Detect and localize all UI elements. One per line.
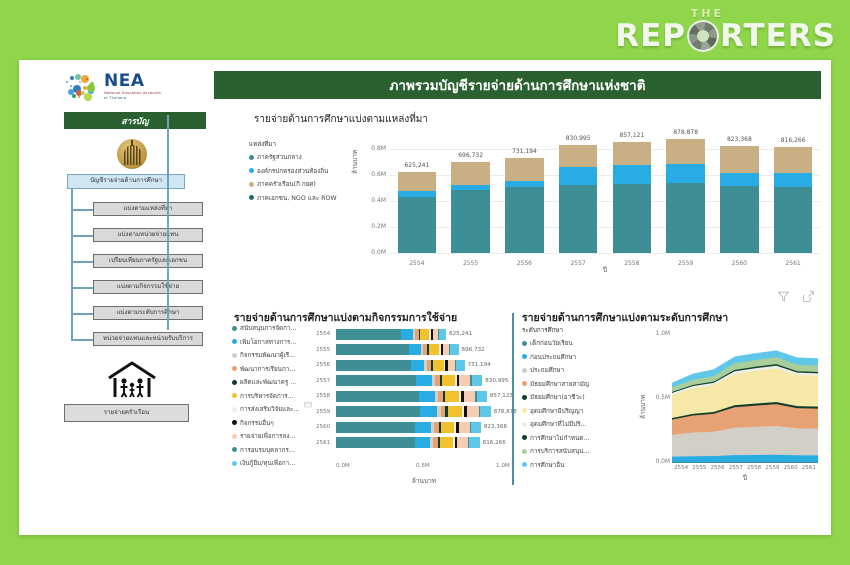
hbar-value-label: 830,995 [485,378,508,384]
legend-label: ก่อนประถมศึกษา [530,352,576,362]
hbar-segment[interactable] [457,437,468,448]
hbar-segment[interactable] [472,375,482,386]
bar-segment[interactable] [559,167,598,185]
chart-toolbar [777,288,815,307]
nea-logo: NEA National Education Accounts of Thail… [64,72,161,102]
bar-column[interactable]: 816,2662561 [766,130,820,275]
bar-column[interactable]: 696,7322555 [444,130,498,275]
x-axis-tick: 2555 [690,465,708,471]
legend-label: อุดมศึกษาที่ไม่มีปริ... [530,419,587,429]
legend-swatch [249,182,254,187]
legend-swatch [249,168,254,173]
hbar-category: 2555 [316,347,336,353]
bar-segment[interactable] [613,184,652,253]
legend-label: การบริหารจัดการ... [240,391,294,401]
hbar-track [336,391,512,402]
bar-column[interactable]: 830,9952557 [551,130,605,275]
x-axis-tick: 2554 [672,465,690,471]
site-logo: THE REP RTERS [615,8,836,52]
bar-column[interactable]: 823,3682560 [713,130,767,275]
hbar-category: 2559 [316,409,336,415]
bar-value-label: 823,368 [713,136,767,143]
legend-swatch [232,366,237,371]
bar-value-label: 830,995 [551,135,605,142]
nea-logo-subtitle-1: National Education Accounts [104,92,161,96]
legend-label: เพิ่มโอกาสทางการ... [240,337,296,347]
hbar-segment[interactable] [420,406,437,417]
legend-swatch [522,408,527,413]
legend-item[interactable]: ผลิตและพัฒนาครู ... [232,377,314,387]
hbar-segment[interactable] [445,391,459,402]
hbar-category: 2560 [316,424,336,430]
bar-segment[interactable] [451,162,490,184]
legend-label: เงินกู้ยืม/ทุนเพื่อกา... [240,458,295,468]
legend-item[interactable]: ประถมศึกษา [522,365,610,375]
sidebar-item-by-payer-unit[interactable]: แบ่งตามหน่วยจ่ายแทน [93,228,203,242]
page-title: ภาพรวมบัญชีรายจ่ายด้านการศึกษาแห่งชาติ [214,71,821,99]
nea-logo-subtitle-2: of Thailand [104,97,161,101]
legend-label: ประถมศึกษา [530,365,564,375]
sidebar: สารบัญ บัญชีรายจ่ายด้านการศึกษา แบ่งตามแ… [64,112,214,527]
dashboard-header: NEA National Education Accounts of Thail… [19,60,831,108]
hbar-segment[interactable] [464,391,476,402]
legend-item[interactable]: ภาคเอกชน, NGO และ ROW [249,193,361,203]
legend-item[interactable]: รายจ่ายเพื่อการลง... [232,431,314,441]
br-legend-title: ระดับการศึกษา [522,325,610,335]
tree-tick [71,235,93,237]
hbar-row[interactable]: 2559878,878 [316,405,512,419]
bar-segment[interactable] [613,165,652,184]
hbar-segment[interactable] [409,344,421,355]
bar-segment[interactable] [398,197,437,253]
legend-label: มัธยมศึกษาสายสามัญ [530,379,589,389]
legend-label: การศึกษาไม่กำหนด... [530,433,589,443]
sidebar-item-payer-and-service-units[interactable]: หน่วยจ่ายแทนและหน่วยรับบริการ [93,332,203,346]
legend-item[interactable]: เพิ่มโอกาสทางการ... [232,337,314,347]
legend-label: องค์กรปกครองส่วนท้องถิ่น [257,166,328,176]
bar-column[interactable]: 731,1942556 [498,130,552,275]
hbar-row[interactable]: 2557830,995 [316,374,512,388]
sidebar-item-public-vs-private[interactable]: เปรียบเทียบภาครัฐและเอกชน [93,254,203,268]
nea-logo-text: NEA [104,73,161,90]
bl-chart-legend: สนับสนุนการจัดกา...เพิ่มโอกาสทางการ...กิ… [232,323,314,472]
stacked-bar[interactable] [613,142,652,253]
legend-item[interactable]: กิจกรรมอื่นๆ [232,418,314,428]
page-title-text: ภาพรวมบัญชีรายจ่ายด้านการศึกษาแห่งชาติ [390,74,646,96]
hbar-segment[interactable] [429,344,439,355]
stacked-bar[interactable] [720,146,759,253]
legend-label: พัฒนาการเรียนกา... [240,364,295,374]
hbar-value-label: 625,241 [449,331,472,337]
bar-value-label: 625,241 [390,162,444,169]
x-axis-tick: 1.0M [496,463,510,469]
br-chart-legend: ระดับการศึกษา เด็กก่อนวัยเรียนก่อนประถมศ… [522,325,610,473]
hbar-row[interactable]: 2556731,194 [316,358,512,372]
legend-item[interactable]: เงินกู้ยืม/ทุนเพื่อกา... [232,458,314,468]
hbar-value-label: 823,368 [484,424,507,430]
hbar-segment[interactable] [415,437,430,448]
hbar-segment[interactable] [416,375,432,386]
hbar-segment[interactable] [459,375,470,386]
legend-label: กิจกรรมพัฒนาผู้เรี... [240,350,295,360]
hbar-segment[interactable] [336,375,416,386]
hbar-segment[interactable] [415,422,430,433]
legend-label: ภาคเอกชน, NGO และ ROW [257,193,337,203]
top-chart-bars: 625,2412554696,7322555731,1942556830,995… [390,130,820,275]
hbar-category: 2558 [316,393,336,399]
top-chart-plot: ล้านบาท 0.0M0.2M0.4M0.6M0.8M 625,2412554… [352,130,822,275]
x-axis-tick: 0.0M [336,463,350,469]
legend-swatch [232,407,237,412]
y-axis-tick: 0.5M [644,395,670,401]
sort-table-icon[interactable] [304,393,312,412]
legend-label: เด็กก่อนวัยเรียน [530,338,573,348]
legend-item[interactable]: พัฒนาการเรียนกา... [232,364,314,374]
hbar-segment[interactable] [439,329,446,340]
hbar-segment[interactable] [442,375,455,386]
bar-column[interactable]: 878,8782559 [659,130,713,275]
table-of-contents-header[interactable]: สารบัญ [64,112,206,129]
chart-expenditure-by-activity: รายจ่ายด้านการศึกษาแบ่งตามกิจกรรมการใช้จ… [232,309,512,489]
stacked-bar[interactable] [398,172,437,253]
legend-swatch [232,353,237,358]
bar-value-label: 857,121 [605,132,659,139]
legend-swatch [232,339,237,344]
bl-chart-xaxis: 0.0M0.5M1.0M [336,463,512,473]
camera-aperture-icon [687,20,719,52]
sidebar-item-by-activity[interactable]: แบ่งตามกิจกรรมใช้จ่าย [93,280,203,294]
hbar-segment[interactable] [471,422,481,433]
hbar-row[interactable]: 2555696,732 [316,343,512,357]
tree-tick [71,287,93,289]
bar-segment[interactable] [774,173,813,187]
legend-item[interactable]: ภาคครัวเรือน(กิ กยศ) [249,179,361,189]
bar-segment[interactable] [559,185,598,253]
logo-rep-text: REP [615,21,686,52]
sidebar-divider [167,115,169,330]
y-axis-tick: 0.8M [360,145,386,152]
hbar-row[interactable]: 2560823,368 [316,420,512,434]
bar-column[interactable]: 625,2412554 [390,130,444,275]
legend-label: ภาคครัวเรือน(กิ กยศ) [257,179,316,189]
hbar-row[interactable]: 2554625,241 [316,327,512,341]
legend-item[interactable]: การบริการสนับสนุน... [522,446,610,456]
legend-swatch [232,434,237,439]
bar-segment[interactable] [559,145,598,167]
hbar-segment[interactable] [336,329,401,340]
area-chart-svg [672,335,818,463]
hbar-value-label: 857,123 [490,393,513,399]
hbar-segment[interactable] [433,360,444,371]
stacked-bar[interactable] [559,145,598,253]
hbar-segment[interactable] [440,437,453,448]
hbar-segment[interactable] [480,406,490,417]
hbar-row[interactable]: 2561816,266 [316,436,512,450]
bar-column[interactable]: 857,1212558 [605,130,659,275]
tree-tick [71,261,93,263]
legend-swatch [522,395,527,400]
tree-spine [71,189,73,340]
stacked-bar[interactable] [774,147,813,253]
bar-segment[interactable] [613,142,652,166]
legend-label: การส่งเสริมวิจัยและ... [240,404,299,414]
tree-tick [71,339,93,341]
legend-item[interactable]: องค์กรปกครองส่วนท้องถิ่น [249,166,361,176]
legend-item[interactable]: มัธยมศึกษาสายสามัญ [522,379,610,389]
top-legend-title: แหล่งที่มา [249,139,361,149]
hbar-track [336,406,512,417]
hbar-segment[interactable] [336,422,415,433]
family-house-icon [106,360,158,400]
bar-segment[interactable] [451,190,490,253]
hbar-category: 2556 [316,362,336,368]
hbar-category: 2554 [316,331,336,337]
legend-label: การบริการสนับสนุน... [530,446,589,456]
legend-swatch [522,422,527,427]
bar-segment[interactable] [774,147,813,173]
stacked-bar[interactable] [451,162,490,253]
legend-item[interactable]: ก่อนประถมศึกษา [522,352,610,362]
legend-swatch [232,447,237,452]
hbar-category: 2557 [316,378,336,384]
legend-swatch [522,462,527,467]
sidebar-item-by-education-level[interactable]: แบ่งตามระดับการศึกษา [93,306,203,320]
bar-segment[interactable] [505,187,544,253]
hbar-segment[interactable] [469,437,479,448]
x-axis-tick: 2560 [782,465,800,471]
legend-item[interactable]: การส่งเสริมวิจัยและ... [232,404,314,414]
legend-swatch [522,435,527,440]
y-axis-tick: 0.0M [360,249,386,256]
legend-item[interactable]: อุดมศึกษาที่ไม่มีปริ... [522,419,610,429]
legend-item[interactable]: กิจกรรมพัฒนาผู้เรี... [232,350,314,360]
hbar-value-label: 696,732 [462,347,485,353]
br-chart-title: รายจ่ายด้านการศึกษาแบ่งตามระดับการศึกษา [522,309,728,326]
chart-expenditure-by-education-level: รายจ่ายด้านการศึกษาแบ่งตามระดับการศึกษา … [520,309,820,489]
hbar-segment[interactable] [336,391,419,402]
x-axis-tick: 2559 [763,465,781,471]
tree-tick [71,313,93,315]
top-chart-ylabel: ล้านบาท [350,150,360,174]
legend-label: กิจกรรมอื่นๆ [240,418,274,428]
hbar-value-label: 731,194 [468,362,491,368]
x-axis-tick: 2558 [745,465,763,471]
logo-rters-text: RTERS [720,21,836,52]
stacked-bar[interactable] [505,158,544,253]
hbar-segment[interactable] [450,344,458,355]
legend-label: ภาครัฐส่วนกลาง [257,152,302,162]
chart-expenditure-by-source: รายจ่ายด้านการศึกษาแบ่งตามแหล่งที่มา แหล… [234,112,822,297]
hbar-segment[interactable] [401,329,412,340]
y-axis-tick: 0.6M [360,171,386,178]
y-axis-tick: 0.4M [360,197,386,204]
y-axis-tick: 0.0M [644,459,670,465]
legend-item[interactable]: ภาครัฐส่วนกลาง [249,152,361,162]
legend-item[interactable]: สนับสนุนการจัดกา... [232,323,314,333]
hbar-segment[interactable] [336,406,420,417]
legend-swatch [522,341,527,346]
br-chart-plot: ล้านบาท 25542555255625572558255925602561… [614,327,820,487]
hbar-category: 2561 [316,440,336,446]
sidebar-item-by-source[interactable]: แบ่งตามแหล่งที่มา [93,202,203,216]
y-axis-tick: 1.0M [644,331,670,337]
hbar-track [336,344,512,355]
tree-tick [71,209,93,211]
legend-label: การศึกษาอื่น [530,460,564,470]
hbar-segment[interactable] [448,406,462,417]
legend-item[interactable]: การศึกษาไม่กำหนด... [522,433,610,443]
legend-swatch [522,449,527,454]
hbar-segment[interactable] [448,360,455,371]
legend-label: มัธยมศึกษา(อาชีวะ) [530,392,585,402]
legend-label: สนับสนุนการจัดกา... [240,323,296,333]
br-chart-xaxis: 25542555255625572558255925602561 [672,465,818,471]
legend-item[interactable]: เด็กก่อนวัยเรียน [522,338,610,348]
bar-value-label: 878,878 [659,129,713,136]
nea-brain-icon [64,72,98,102]
hbar-track [336,329,512,340]
bar-value-label: 816,266 [766,137,820,144]
y-axis-tick: 0.2M [360,223,386,230]
focus-mode-expand-icon[interactable] [802,288,815,307]
main-content: รายจ่ายด้านการศึกษาแบ่งตามแหล่งที่มา แหล… [224,112,823,527]
legend-swatch [232,420,237,425]
hbar-segment[interactable] [336,344,409,355]
hbar-segment[interactable] [477,391,487,402]
legend-swatch [232,326,237,331]
legend-swatch [522,368,527,373]
logo-the-text: THE [691,8,724,19]
hbar-segment[interactable] [411,360,424,371]
legend-swatch [522,381,527,386]
stacked-bar[interactable] [666,139,705,253]
legend-label: รายจ่ายเพื่อการลง... [240,431,295,441]
legend-item[interactable]: อุดมศึกษามีปริญญา [522,406,610,416]
hbar-segment[interactable] [336,437,415,448]
top-chart-title: รายจ่ายด้านการศึกษาแบ่งตามแหล่งที่มา [254,112,428,127]
hbar-segment[interactable] [456,360,465,371]
dashboard-card: NEA National Education Accounts of Thail… [19,60,831,535]
bar-segment[interactable] [774,187,813,253]
legend-swatch [249,195,254,200]
bar-segment[interactable] [398,172,437,191]
top-chart-xlabel: ปี [390,265,820,275]
legend-label: การอบรมบุคลากร... [240,445,295,455]
filter-funnel-icon[interactable] [777,288,790,307]
bar-segment[interactable] [720,173,759,186]
legend-label: อุดมศึกษามีปริญญา [530,406,583,416]
hbar-segment[interactable] [459,422,470,433]
bar-value-label: 731,194 [498,148,552,155]
bar-segment[interactable] [505,158,544,181]
legend-item[interactable]: การศึกษาอื่น [522,460,610,470]
bar-value-label: 696,732 [444,152,498,159]
hbar-row[interactable]: 2558857,123 [316,389,512,403]
br-chart-xlabel: ปี [672,473,818,483]
legend-item[interactable]: มัธยมศึกษา(อาชีวะ) [522,392,610,402]
government-emblem-icon [117,139,147,169]
logo-wordmark: REP RTERS [615,20,836,52]
legend-item[interactable]: การอบรมบุคลากร... [232,445,314,455]
br-chart-areas [672,335,818,463]
bl-chart-xlabel: ล้านบาท [336,476,512,486]
bar-segment[interactable] [666,183,705,253]
legend-item[interactable]: การบริหารจัดการ... [232,391,314,401]
hbar-segment[interactable] [441,422,454,433]
bar-segment[interactable] [666,139,705,164]
sidebar-item-household-expenditure[interactable]: รายจ่ายครัวเรือน [64,404,189,422]
bar-segment[interactable] [666,164,705,184]
hbar-segment[interactable] [419,391,435,402]
hbar-value-label: 816,266 [483,440,506,446]
hbar-segment[interactable] [420,329,429,340]
legend-swatch [232,461,237,466]
legend-swatch [232,380,237,385]
top-chart-legend: แหล่งที่มา ภาครัฐส่วนกลาง องค์กรปกครองส่… [249,139,361,206]
legend-swatch [249,155,254,160]
x-axis-tick: 2561 [800,465,818,471]
legend-swatch [232,393,237,398]
x-axis-tick: 0.5M [416,463,430,469]
hbar-segment[interactable] [467,406,479,417]
hbar-segment[interactable] [336,360,411,371]
bar-segment[interactable] [720,146,759,173]
x-axis-tick: 2557 [727,465,745,471]
bar-segment[interactable] [720,186,759,253]
legend-swatch [522,354,527,359]
legend-label: ผลิตและพัฒนาครู ... [240,377,296,387]
x-axis-tick: 2556 [709,465,727,471]
